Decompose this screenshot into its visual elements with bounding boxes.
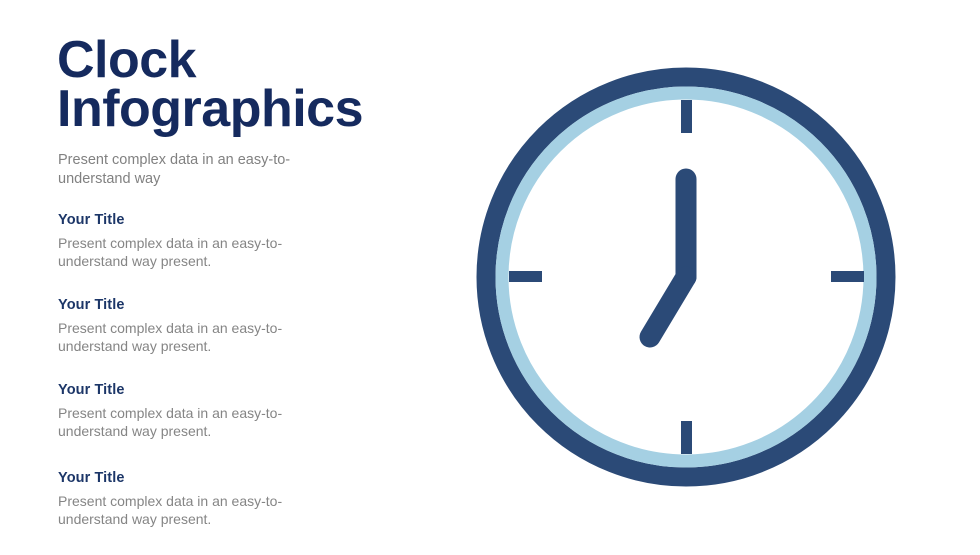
clock-mark-9 [509,271,542,282]
feature-list: Your Title Present complex data in an ea… [58,212,358,555]
list-item-description: Present complex data in an easy-to-under… [58,404,308,441]
list-item-description: Present complex data in an easy-to-under… [58,492,308,529]
list-item-description: Present complex data in an easy-to-under… [58,234,308,271]
list-item-title: Your Title [58,212,358,228]
page-subtitle: Present complex data in an easy-to-under… [58,151,320,189]
clock-mark-12 [681,100,692,133]
slide-canvas: Clock Infographics Present complex data … [0,0,980,551]
list-item-title: Your Title [58,382,358,398]
list-item: Your Title Present complex data in an ea… [58,382,358,441]
list-item: Your Title Present complex data in an ea… [58,470,358,529]
list-item-title: Your Title [58,297,358,313]
clock-mark-3 [831,271,864,282]
list-item: Your Title Present complex data in an ea… [58,297,358,356]
list-item-description: Present complex data in an easy-to-under… [58,319,308,356]
headline-block: Clock Infographics Present complex data … [57,36,387,189]
page-title: Clock Infographics [57,36,387,135]
clock-icon [466,53,908,503]
clock-mark-6 [681,421,692,454]
clock-illustration [466,53,908,503]
list-item-title: Your Title [58,470,358,486]
list-item: Your Title Present complex data in an ea… [58,212,358,271]
